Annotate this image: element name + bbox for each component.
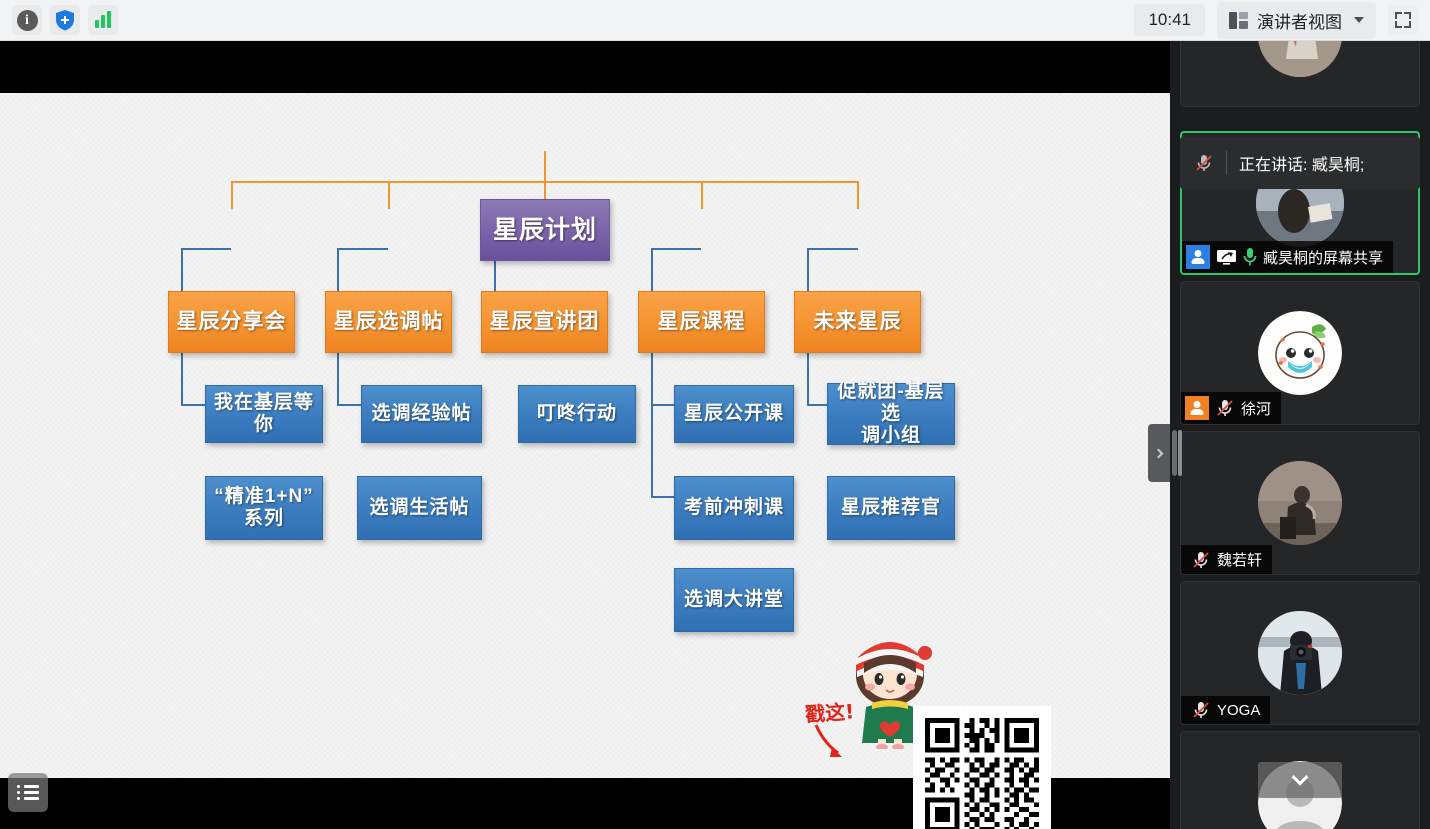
mic-muted-icon <box>1191 550 1211 570</box>
fullscreen-button[interactable] <box>1388 5 1418 35</box>
mindmap-leaf-node-b4-c1: 星辰推荐官 <box>827 476 955 540</box>
avatar <box>1258 311 1342 395</box>
layout-icon <box>1229 12 1248 29</box>
rail-scrollbar-track[interactable] <box>1172 430 1177 476</box>
mindmap-root-node: 星辰计划 <box>480 199 610 261</box>
network-status-button[interactable] <box>88 5 118 35</box>
mindmap-branch-node-2: 星辰宣讲团 <box>481 291 608 353</box>
connector-b4-child-1 <box>807 404 827 406</box>
mic-muted-icon <box>1215 398 1235 418</box>
speaking-banner: 正在讲话: 臧昊桐; <box>1180 137 1420 189</box>
connector-b3-top <box>651 248 701 250</box>
participant-name: 徐河 <box>1241 398 1271 419</box>
mindmap-leaf-node-b4-c0: 促就团-基层选 调小组 <box>827 383 955 445</box>
info-icon: i <box>17 10 38 31</box>
toolbar-right-group: 10:41 演讲者视图 <box>1134 2 1430 39</box>
chevron-down-icon <box>1354 17 1364 23</box>
connector-b3-child-2 <box>651 496 674 498</box>
connector-branch-0 <box>231 181 233 209</box>
view-mode-label: 演讲者视图 <box>1257 8 1342 33</box>
connector-b0-top <box>181 248 231 250</box>
qr-code-icon <box>913 706 1051 829</box>
list-icon <box>17 782 39 803</box>
avatar <box>1258 461 1342 545</box>
connector-b1-child-1 <box>337 404 361 406</box>
mic-on-icon <box>1243 247 1257 267</box>
security-button[interactable] <box>50 5 80 35</box>
person-icon <box>1185 396 1209 420</box>
person-icon <box>1186 245 1210 269</box>
toolbar-left-group: i <box>0 5 118 35</box>
callout-arrow-icon <box>812 723 856 763</box>
mindmap-leaf-node-b2-c0: 叮咚行动 <box>518 385 636 443</box>
mindmap-branch-node-3: 星辰课程 <box>638 291 765 353</box>
mindmap-leaf-node-b3-c0: 星辰公开课 <box>674 385 794 443</box>
speaking-text: 正在讲话: 臧昊桐; <box>1239 151 1364 175</box>
connector-b3-child-1 <box>651 404 674 406</box>
connector-branch-1 <box>388 181 390 209</box>
connector-root-stem <box>544 151 546 183</box>
avatar <box>1258 41 1342 77</box>
connector-b1-top <box>337 248 388 250</box>
mindmap-leaf-node-b3-c1: 考前冲刺课 <box>674 476 794 540</box>
meeting-window: i 10:41 演讲者视图 <box>0 0 1430 829</box>
participant-name: 臧昊桐的屏幕共享 <box>1263 247 1383 268</box>
collapse-panel-button[interactable] <box>1148 424 1170 482</box>
chevron-down-icon <box>1292 769 1309 786</box>
participant-tile[interactable] <box>1180 731 1420 829</box>
mindmap-branch-node-0: 星辰分享会 <box>168 291 295 353</box>
view-mode-selector[interactable]: 演讲者视图 <box>1217 2 1376 39</box>
connector-b3-spine <box>651 248 653 497</box>
mindmap-leaf-node-b1-c0: 选调经验帖 <box>361 385 482 443</box>
participant-label: 臧昊桐的屏幕共享 <box>1182 241 1393 273</box>
signal-bars-icon <box>95 12 111 28</box>
mic-muted-icon <box>1194 153 1214 173</box>
mindmap-leaf-node-b1-c1: 选调生活帖 <box>357 476 482 540</box>
mindmap-leaf-node-b0-c0: 我在基层等你 <box>205 385 323 443</box>
shared-screen-stage: 星辰计划 星辰分享会 星辰选调帖 星辰宣讲团 星辰课程 未来星辰 我在基层等你 … <box>0 41 1170 829</box>
connector-branch-3 <box>701 181 703 209</box>
fullscreen-icon <box>1395 12 1402 19</box>
divider <box>1226 151 1227 175</box>
mic-muted-icon <box>1191 700 1211 720</box>
participant-name: 魏若轩 <box>1217 549 1262 570</box>
avatar <box>1258 611 1342 695</box>
participant-label: YOGA <box>1181 696 1270 724</box>
connector-b0-child-1 <box>181 404 205 406</box>
mindmap-leaf-node-b3-c2: 选调大讲堂 <box>674 568 794 632</box>
info-button[interactable]: i <box>12 5 42 35</box>
participants-rail[interactable]: 正在讲话: 臧昊桐; <box>1170 41 1430 829</box>
participant-tile[interactable]: 徐河 <box>1180 281 1420 425</box>
mindmap-branch-node-4: 未来星辰 <box>794 291 921 353</box>
participant-label: 魏若轩 <box>1181 545 1272 574</box>
shield-icon <box>55 9 75 31</box>
clock: 10:41 <box>1134 4 1205 36</box>
participant-tile[interactable] <box>1180 41 1420 107</box>
participant-label: 徐河 <box>1181 392 1281 424</box>
connector-branch-4 <box>857 181 859 209</box>
rail-scrollbar-thumb[interactable] <box>1178 430 1182 476</box>
presentation-slide: 星辰计划 星辰分享会 星辰选调帖 星辰宣讲团 星辰课程 未来星辰 我在基层等你 … <box>0 93 1170 778</box>
mindmap-branch-node-1: 星辰选调帖 <box>325 291 452 353</box>
mindmap-leaf-node-b0-c1: “精准1+N” 系列 <box>205 476 323 540</box>
participant-tile[interactable]: 魏若轩 <box>1180 431 1420 575</box>
top-toolbar: i 10:41 演讲者视图 <box>0 0 1430 41</box>
screen-share-icon <box>1216 248 1237 266</box>
scroll-down-button[interactable] <box>1258 762 1342 798</box>
connector-b4-top <box>807 248 858 250</box>
participant-tile[interactable]: YOGA <box>1180 581 1420 725</box>
list-button[interactable] <box>8 773 48 812</box>
participant-name: YOGA <box>1217 702 1260 719</box>
chevron-right-icon <box>1153 448 1163 458</box>
